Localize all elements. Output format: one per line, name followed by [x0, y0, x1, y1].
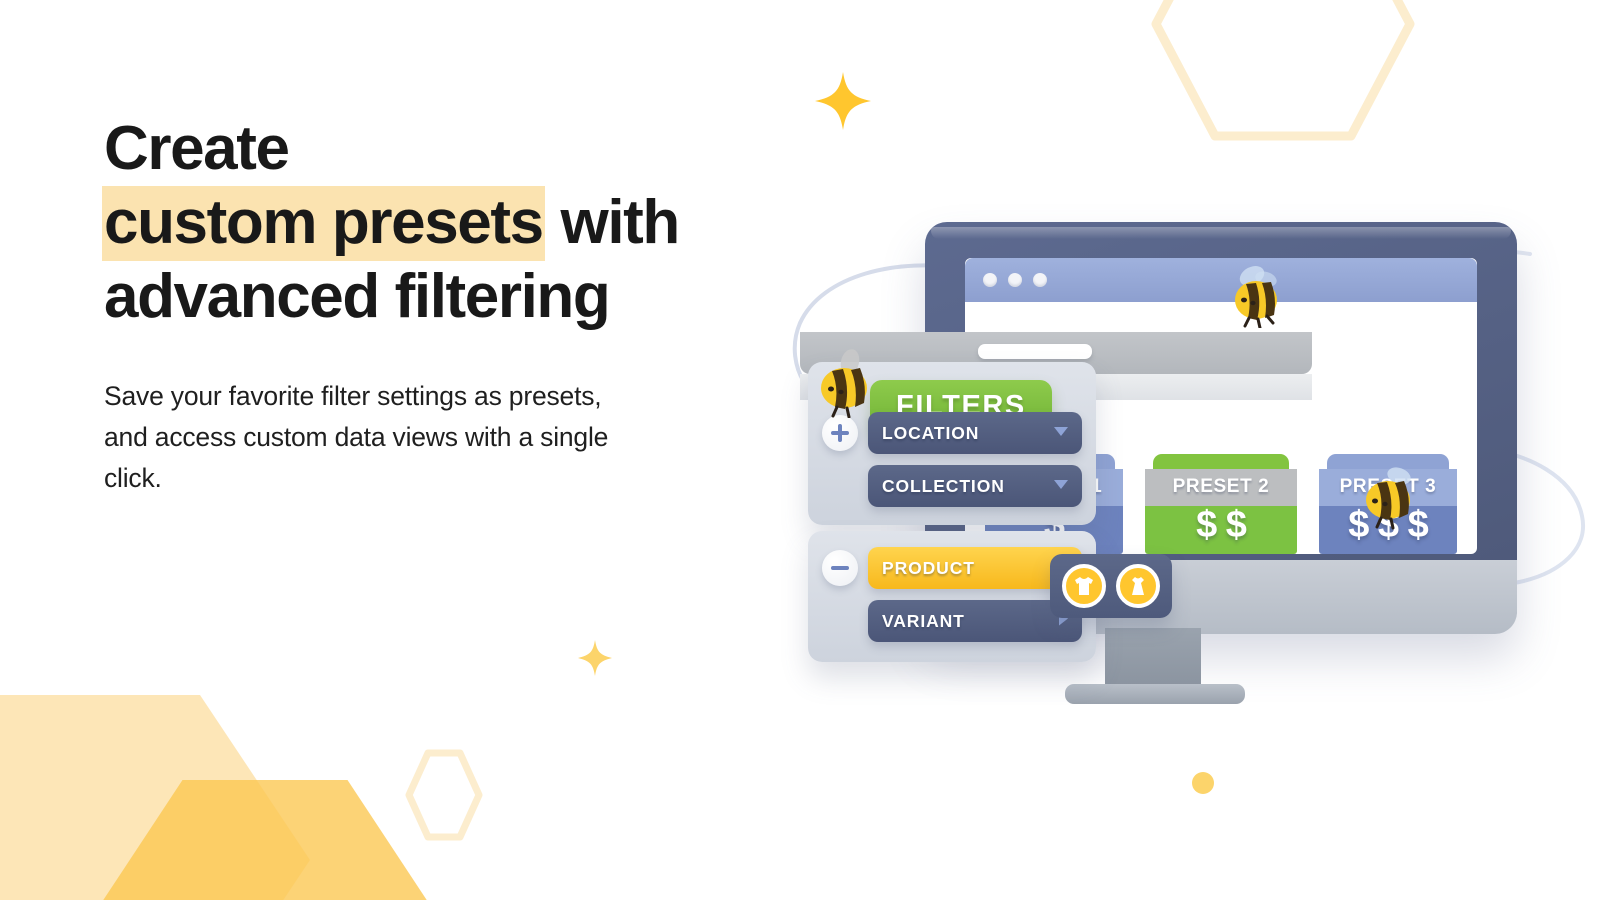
- filter-pill-location[interactable]: LOCATION: [868, 412, 1082, 454]
- hexagon-filled-small: [100, 780, 430, 900]
- monitor-shelf-slot: [978, 344, 1092, 359]
- headline-line-3: advanced filtering: [104, 262, 609, 331]
- spacer-icon: [822, 603, 858, 639]
- filter-row-collection[interactable]: COLLECTION: [822, 465, 1082, 507]
- minus-icon[interactable]: [822, 550, 858, 586]
- browser-dot-close-icon: [983, 273, 997, 287]
- hero-illustration: PRESET 1 $ PRESET 2 $ $: [760, 0, 1600, 900]
- preset-card-2-cap: [1153, 454, 1289, 469]
- garment-chip-group: [1050, 554, 1172, 618]
- headline-line-1: Create: [104, 114, 289, 183]
- browser-dot-minimize-icon: [1008, 273, 1022, 287]
- hero-subcopy: Save your favorite filter settings as pr…: [104, 376, 649, 499]
- chevron-down-icon: [1053, 424, 1069, 442]
- monitor-stand-base: [1065, 684, 1245, 704]
- bee-top-screen: [1222, 262, 1292, 333]
- preset-card-2-price: $ $: [1145, 506, 1297, 554]
- filter-label-variant: VARIANT: [882, 611, 965, 632]
- dress-icon[interactable]: [1116, 564, 1160, 608]
- sparkle-small: [578, 640, 612, 681]
- hero-copy: Create custom presets with advanced filt…: [104, 112, 804, 499]
- preset-card-2-title: PRESET 2: [1145, 469, 1297, 506]
- filter-label-product: PRODUCT: [882, 558, 975, 579]
- monitor-stand-neck: [1105, 628, 1201, 690]
- filter-pill-collection[interactable]: COLLECTION: [868, 465, 1082, 507]
- headline-highlight: custom presets: [102, 186, 545, 261]
- monitor-bezel-highlight: [931, 227, 1511, 239]
- preset-card-2[interactable]: PRESET 2 $ $: [1145, 454, 1297, 554]
- filter-row-product[interactable]: PRODUCT: [822, 547, 1082, 589]
- filter-label-collection: COLLECTION: [882, 476, 1005, 497]
- filter-row-variant[interactable]: VARIANT: [822, 600, 1082, 642]
- browser-titlebar: [965, 258, 1477, 302]
- browser-traffic-lights: [983, 273, 1047, 287]
- tshirt-icon[interactable]: [1062, 564, 1106, 608]
- hexagon-outline-bottom: [404, 748, 480, 836]
- filter-label-location: LOCATION: [882, 423, 979, 444]
- page-title: Create custom presets with advanced filt…: [104, 112, 804, 334]
- browser-dot-maximize-icon: [1033, 273, 1047, 287]
- hexagon-filled-large: [0, 695, 310, 900]
- bee-filters: [810, 348, 884, 423]
- spacer-icon: [822, 468, 858, 504]
- bee-right: [1355, 462, 1429, 535]
- chevron-down-icon: [1053, 477, 1069, 495]
- hero-banner: Create custom presets with advanced filt…: [0, 0, 1600, 900]
- headline-line-2-tail: with: [545, 188, 679, 257]
